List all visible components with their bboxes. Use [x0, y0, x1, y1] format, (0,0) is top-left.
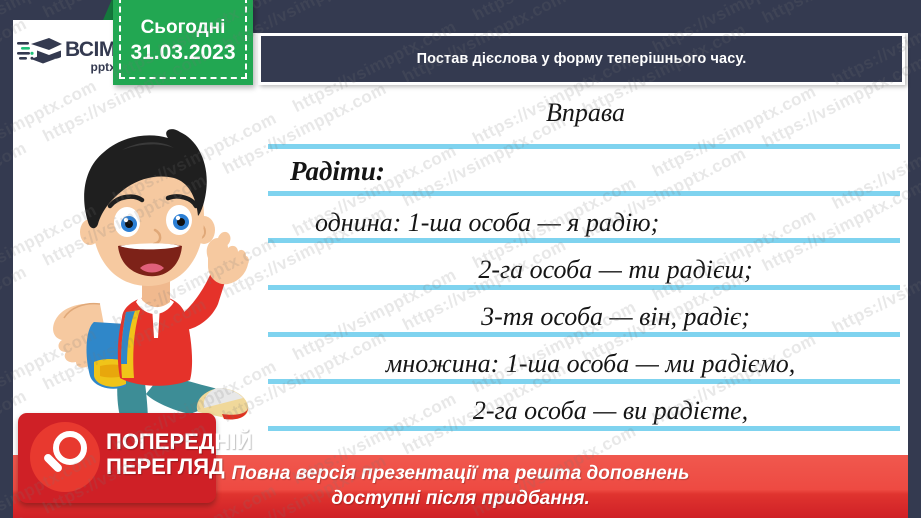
magnifier-icon	[30, 422, 100, 492]
brand-logo-text: ВСІМ pptx	[65, 39, 116, 73]
body-line-sg-2nd: 2-га особа — ти радієш;	[268, 255, 903, 285]
slide-title-text: Постав дієслова у форму теперішнього час…	[417, 51, 747, 67]
slide-title-bar: Постав дієслова у форму теперішнього час…	[258, 33, 905, 85]
body-line-pl-1st: множина: 1-ша особа — ми радіємо,	[268, 349, 903, 379]
date-badge: Сьогодні 31.03.2023	[113, 0, 253, 85]
presentation-slide: ВСІМ pptx Сьогодні 31.03.2023 Постав діє…	[0, 0, 921, 518]
body-line-verb: Радіти:	[268, 156, 903, 187]
body-line-exercise: Вправа	[268, 98, 903, 128]
body-line-sg-1st: однина: 1-ша особа — я радію;	[268, 208, 903, 238]
brand-suffix: pptx	[65, 61, 116, 73]
slide-frame-left	[0, 0, 13, 518]
preview-badge: ПОПЕРЕДНІЙ ПЕРЕГЛЯД	[18, 413, 216, 503]
brand-name: ВСІМ	[65, 38, 116, 61]
preview-badge-line1: ПОПЕРЕДНІЙ	[106, 429, 252, 454]
graduation-cap-icon	[17, 36, 63, 76]
body-line-pl-2nd: 2-га особа — ви радієте,	[268, 396, 903, 426]
brand-logo: ВСІМ pptx	[13, 20, 127, 92]
date-badge-value: 31.03.2023	[130, 40, 235, 66]
date-badge-label: Сьогодні	[141, 16, 226, 40]
slide-body: Вправа Радіти: однина: 1-ша особа — я ра…	[268, 96, 903, 456]
slide-frame-right	[908, 0, 921, 518]
preview-badge-text: ПОПЕРЕДНІЙ ПЕРЕГЛЯД	[106, 429, 252, 479]
purchase-notice-line1: Повна версія презентації та решта доповн…	[232, 462, 690, 486]
cartoon-schoolboy-illustration	[22, 126, 272, 426]
body-line-sg-3rd: 3-тя особа — він, радіє;	[268, 302, 903, 332]
preview-badge-line2: ПЕРЕГЛЯД	[106, 454, 252, 479]
purchase-notice-line2: доступні після придбання.	[331, 487, 590, 511]
